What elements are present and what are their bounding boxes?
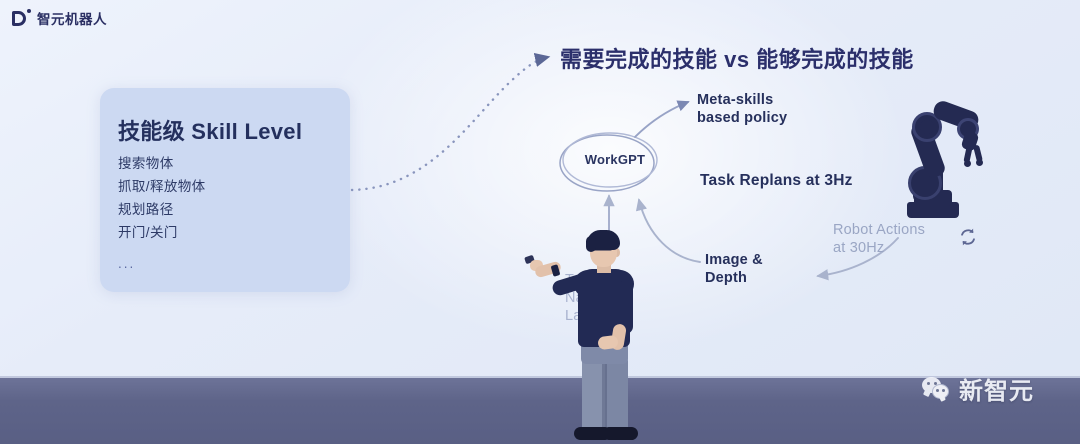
- watermark-text: 新智元: [959, 371, 1034, 406]
- label-robot-actions: Robot Actions at 30Hz: [833, 221, 931, 257]
- label-meta-policy: Meta-skills based policy: [697, 91, 815, 127]
- list-item: 开门/关门: [118, 221, 206, 244]
- refresh-cycle-icon: [957, 226, 979, 248]
- robot-arm-icon: [885, 98, 995, 226]
- skill-level-card: 技能级 Skill Level 搜索物体 抓取/释放物体 规划路径 开门/关门 …: [100, 88, 350, 292]
- brand-name: 智元机器人: [37, 8, 107, 28]
- speaker-figure: [534, 224, 654, 440]
- workgpt-node-label: WorkGPT: [570, 152, 660, 167]
- skill-list: 搜索物体 抓取/释放物体 规划路径 开门/关门 ...: [118, 152, 206, 275]
- list-item: 规划路径: [118, 198, 206, 221]
- label-task-replans: Task Replans at 3Hz: [700, 172, 853, 190]
- robot-d-mark-icon: [12, 9, 30, 27]
- list-item: 搜索物体: [118, 152, 206, 175]
- brand-logo: 智元机器人: [12, 8, 107, 28]
- slide-headline: 需要完成的技能 vs 能够完成的技能: [560, 42, 914, 74]
- wechat-icon: [922, 377, 952, 401]
- label-image-depth: Image & Depth: [705, 251, 777, 287]
- watermark: 新智元: [922, 371, 1034, 406]
- list-item-ellipsis: ...: [118, 244, 206, 275]
- screenshot-root: 智元机器人 技能级 Skill Level 搜索物体 抓取/释放物体 规划路径 …: [0, 0, 1080, 444]
- list-item: 抓取/释放物体: [118, 175, 206, 198]
- skill-card-title: 技能级 Skill Level: [118, 114, 302, 146]
